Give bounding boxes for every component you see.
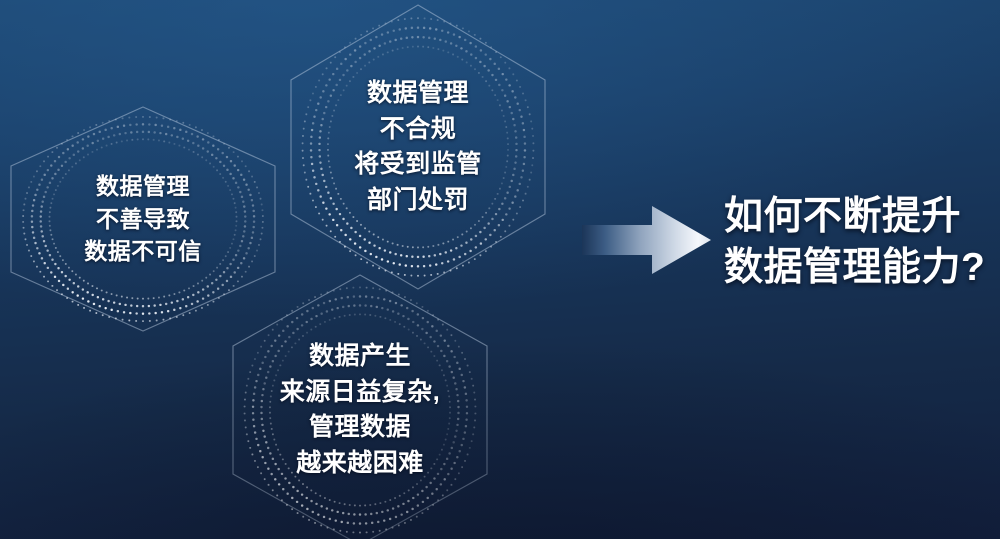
headline-line-1: 如何不断提升 [724, 192, 992, 243]
hexagon-3-text: 数据产生 来源日益复杂, 管理数据 越来越困难 [280, 339, 440, 481]
hex2-line-4: 部门处罚 [354, 183, 482, 219]
hex2-line-2: 不合规 [354, 112, 482, 148]
hexagon-2-text: 数据管理 不合规 将受到监管 部门处罚 [354, 76, 482, 218]
headline: 如何不断提升 数据管理能力? [724, 192, 992, 293]
hexagon-1-text: 数据管理 不善导致 数据不可信 [84, 170, 202, 268]
hex2-line-3: 将受到监管 [354, 147, 482, 183]
hex3-line-2: 来源日益复杂, [280, 375, 440, 411]
slide-canvas: 数据管理 不善导致 数据不可信 数据管理 不合规 将受到监管 部门处罚 数据产生… [0, 0, 1000, 539]
hex3-line-4: 越来越困难 [280, 446, 440, 482]
hex1-line-1: 数据管理 [84, 170, 202, 203]
headline-line-2: 数据管理能力? [724, 243, 992, 294]
hex1-line-3: 数据不可信 [84, 235, 202, 268]
hexagon-regulatory-penalty[interactable]: 数据管理 不合规 将受到监管 部门处罚 [288, 2, 548, 292]
hex2-line-1: 数据管理 [354, 76, 482, 112]
right-arrow-icon [580, 200, 714, 280]
hex3-line-3: 管理数据 [280, 410, 440, 446]
hexagon-complex-sources[interactable]: 数据产生 来源日益复杂, 管理数据 越来越困难 [230, 272, 490, 539]
hex3-line-1: 数据产生 [280, 339, 440, 375]
hex1-line-2: 不善导致 [84, 203, 202, 236]
